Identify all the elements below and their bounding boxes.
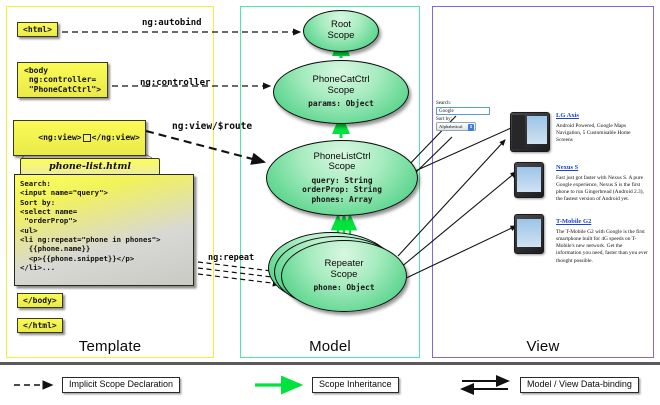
diagram-canvas: Template Model View <box>0 0 660 405</box>
phone-thumbnail-tmobile-g2 <box>514 214 544 254</box>
scope-repeater-props: phone: Object <box>313 283 374 293</box>
scope-phonelistctrl-name: PhoneListCtrl Scope <box>313 152 370 173</box>
html-open-tag: <html> <box>17 22 58 37</box>
scope-phonelistctrl: PhoneListCtrl Scope query: String orderP… <box>266 140 418 216</box>
phone-thumbnail-nexus-s <box>514 162 544 198</box>
placeholder-square-icon <box>83 134 91 142</box>
sort-select[interactable]: Alphabetical ⬍ <box>436 122 476 131</box>
legend-label: Scope Inheritance <box>312 377 399 394</box>
sort-select-value: Alphabetical <box>439 124 462 129</box>
connector-label-ngview-route: ng:view/$route <box>172 121 252 132</box>
ng-view-open: <ng:view> <box>38 133 81 142</box>
legend-item-scope-inheritance: Scope Inheritance <box>312 374 399 393</box>
connector-label-controller: ng:controller <box>140 78 210 88</box>
scope-phonelistctrl-props: query: String orderProp: String phones: … <box>302 176 382 205</box>
legend-divider <box>0 362 660 365</box>
panel-model-label: Model <box>241 338 419 355</box>
scope-phonecatctrl: PhoneCatCtrl Scope params: Object <box>273 60 409 124</box>
phone-thumbnail-lg-axis <box>510 112 550 152</box>
html-close-tag: </html> <box>17 318 63 333</box>
legend-item-data-binding: Model / View Data-binding <box>520 374 639 393</box>
phone-name-link[interactable]: T-Mobile G2 <box>556 218 591 225</box>
template-file-name: phone-list.html <box>20 158 160 175</box>
scope-root: Root Scope <box>303 10 379 52</box>
template-file-body: Search: <input name="query"> Sort by: <s… <box>14 174 194 286</box>
body-open-tag: <body ng:controller= "PhoneCatCtrl"> <box>17 62 108 98</box>
scope-repeater: Repeater Scope phone: Object <box>281 240 407 312</box>
ng-view-element: <ng:view></ng:view> <box>13 120 146 156</box>
legend-label: Model / View Data-binding <box>520 377 639 394</box>
browser-mock-form: Search: Google Sort by: Alphabetical ⬍ <box>436 101 494 145</box>
phone-snippet: Android Powered, Google Maps Navigation,… <box>556 123 648 144</box>
phone-name-link[interactable]: Nexus S <box>556 164 578 171</box>
template-file-callout: phone-list.html Search: <input name="que… <box>14 158 194 286</box>
panel-view-label: View <box>433 338 653 355</box>
template-file-code: Search: <input name="query"> Sort by: <s… <box>20 179 188 272</box>
connector-label-autobind: ng:autobind <box>142 18 202 28</box>
ng-view-close: </ng:view> <box>92 133 140 142</box>
panel-template-label: Template <box>7 338 213 355</box>
scope-phonecatctrl-name: PhoneCatCtrl Scope <box>312 75 369 96</box>
phone-snippet: Fast just got faster with Nexus S. A pur… <box>556 175 648 204</box>
scope-repeater-name: Repeater Scope <box>324 259 363 280</box>
connector-label-ngrepeat: ng:repeat <box>208 253 254 263</box>
legend-label: Implicit Scope Declaration <box>62 377 180 394</box>
phone-name-link[interactable]: LG Axis <box>556 112 579 119</box>
search-input[interactable]: Google <box>436 107 490 115</box>
scope-phonecatctrl-props: params: Object <box>308 99 374 109</box>
legend-item-implicit-scope-declaration: Implicit Scope Declaration <box>62 374 180 393</box>
scope-root-name: Root Scope <box>328 20 355 41</box>
chevron-updown-icon: ⬍ <box>468 124 474 131</box>
phone-snippet: The T-Mobile G2 with Google is the first… <box>556 229 648 265</box>
body-close-tag: </body> <box>17 293 63 308</box>
legend: Implicit Scope Declaration Scope Inherit… <box>0 368 660 405</box>
